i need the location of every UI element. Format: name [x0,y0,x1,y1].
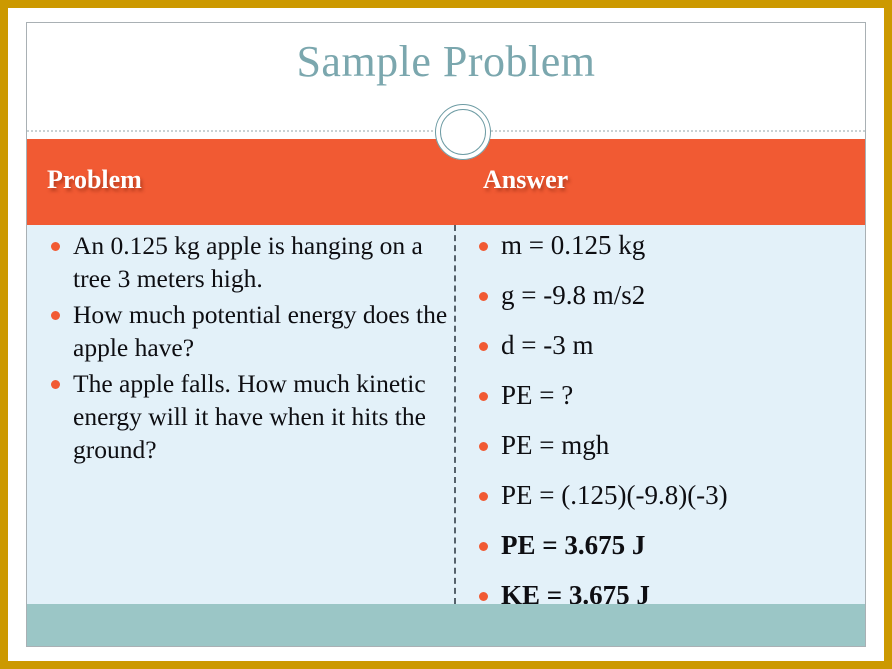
column-header-answer: Answer [483,165,568,195]
answer-bullet-item: d = -3 m [467,329,866,362]
answer-bullet-item: PE = 3.675 J [467,529,866,562]
answer-bullet-item: PE = (.125)(-9.8)(-3) [467,479,866,512]
column-header-problem: Problem [47,165,142,195]
problem-bullet-list: An 0.125 kg apple is hanging on a tree 3… [39,229,449,466]
table-body: An 0.125 kg apple is hanging on a tree 3… [27,225,865,604]
answer-bullet-list: m = 0.125 kgg = -9.8 m/s2d = -3 mPE = ?P… [467,229,866,612]
answer-bullet-item: PE = mgh [467,429,866,462]
problem-bullet-item: How much potential energy does the apple… [39,298,449,364]
answer-bullet-item: PE = ? [467,379,866,412]
slide-canvas: Sample Problem Problem Answer An 0.125 k… [26,22,866,647]
circle-ornament-inner-ring [440,109,486,155]
answer-column: m = 0.125 kgg = -9.8 m/s2d = -3 mPE = ?P… [467,229,866,604]
slide-frame: Sample Problem Problem Answer An 0.125 k… [0,0,892,669]
problem-column: An 0.125 kg apple is hanging on a tree 3… [39,229,449,604]
footer-band [27,604,865,646]
answer-bullet-item: g = -9.8 m/s2 [467,279,866,312]
column-divider [454,225,456,604]
circle-ornament-icon [432,101,494,163]
problem-bullet-item: An 0.125 kg apple is hanging on a tree 3… [39,229,449,295]
page-title: Sample Problem [27,39,865,85]
answer-bullet-item: m = 0.125 kg [467,229,866,262]
problem-bullet-item: The apple falls. How much kinetic energy… [39,367,449,466]
